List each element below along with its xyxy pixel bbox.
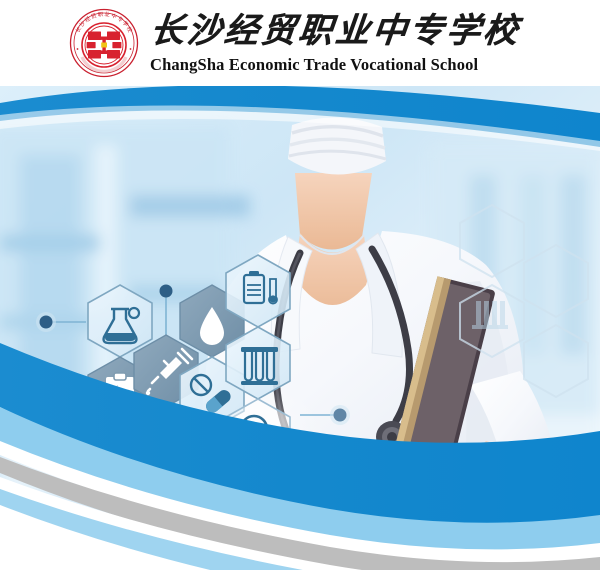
- site-header: 长沙经贸职业中专学校: [0, 0, 600, 86]
- school-crest-logo[interactable]: 长沙经贸职业中专学校: [68, 7, 140, 79]
- school-name-en: ChangSha Economic Trade Vocational Schoo…: [150, 55, 478, 75]
- header-titles: 长沙经贸职业中专学校 ChangSha Economic Trade Vocat…: [150, 12, 520, 75]
- hero-banner[interactable]: [0, 85, 600, 570]
- school-name-cn: 长沙经贸职业中专学校: [148, 12, 522, 52]
- page-root: 长沙经贸职业中专学校: [0, 0, 600, 570]
- header-inner: 长沙经贸职业中专学校: [68, 7, 520, 79]
